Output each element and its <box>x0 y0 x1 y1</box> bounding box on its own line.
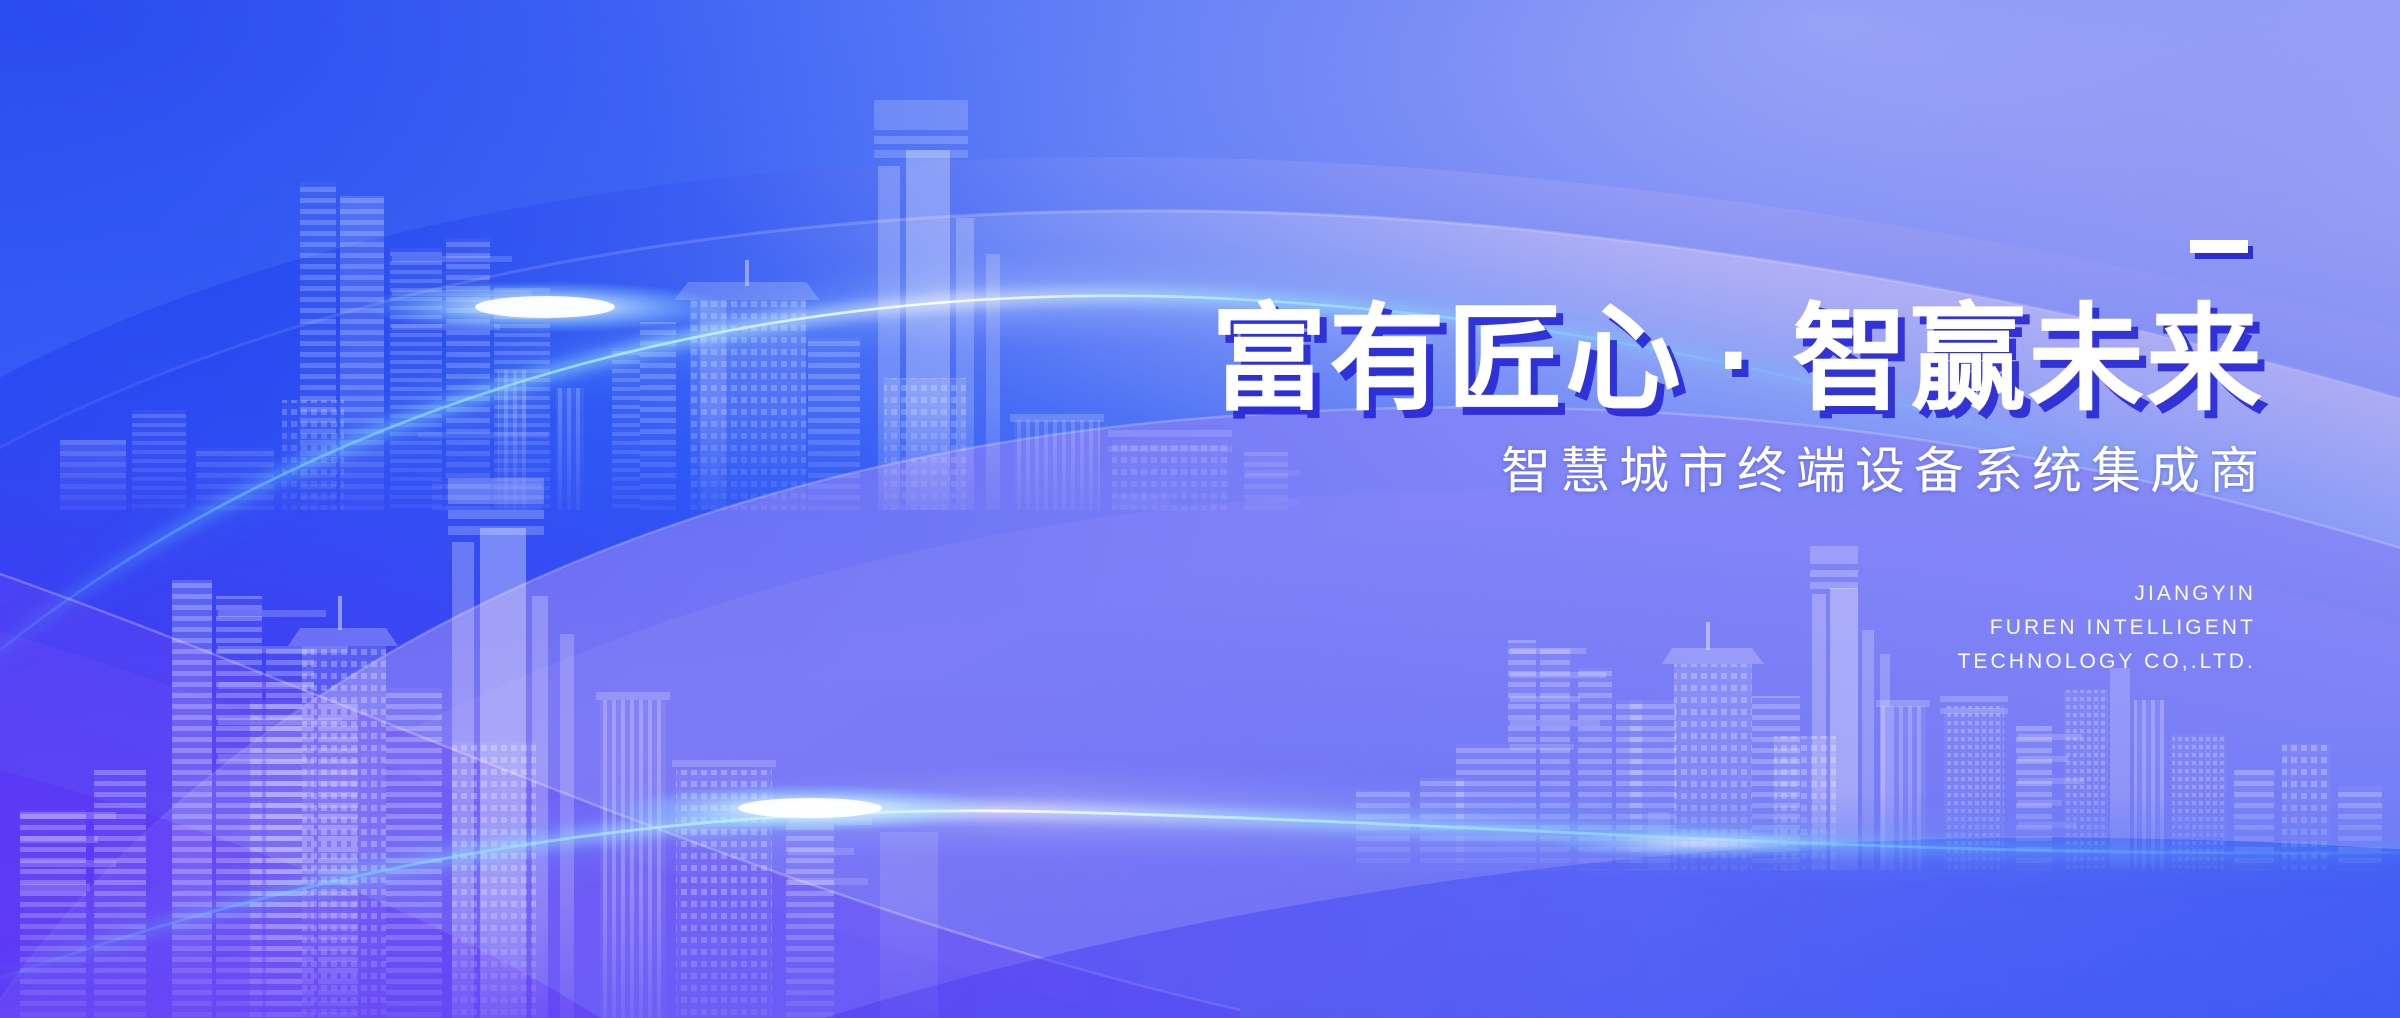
banner-text-block: 富有匠心 · 智赢未来 智慧城市终端设备系统集成商 JIANGYIN FUREN… <box>1030 240 2270 679</box>
company-name-line-3: TECHNOLOGY CO,.LTD. <box>1030 645 2256 679</box>
company-name-line-1: JIANGYIN <box>1030 577 2256 611</box>
banner-subtitle: 智慧城市终端设备系统集成商 <box>1030 444 2270 499</box>
company-name-block: JIANGYIN FUREN INTELLIGENT TECHNOLOGY CO… <box>1030 577 2270 679</box>
promotional-banner: 富有匠心 · 智赢未来 智慧城市终端设备系统集成商 JIANGYIN FUREN… <box>0 0 2400 1018</box>
accent-dash-decoration <box>2190 240 2248 253</box>
banner-headline: 富有匠心 · 智赢未来 <box>1030 300 2270 418</box>
company-name-line-2: FUREN INTELLIGENT <box>1030 611 2256 645</box>
